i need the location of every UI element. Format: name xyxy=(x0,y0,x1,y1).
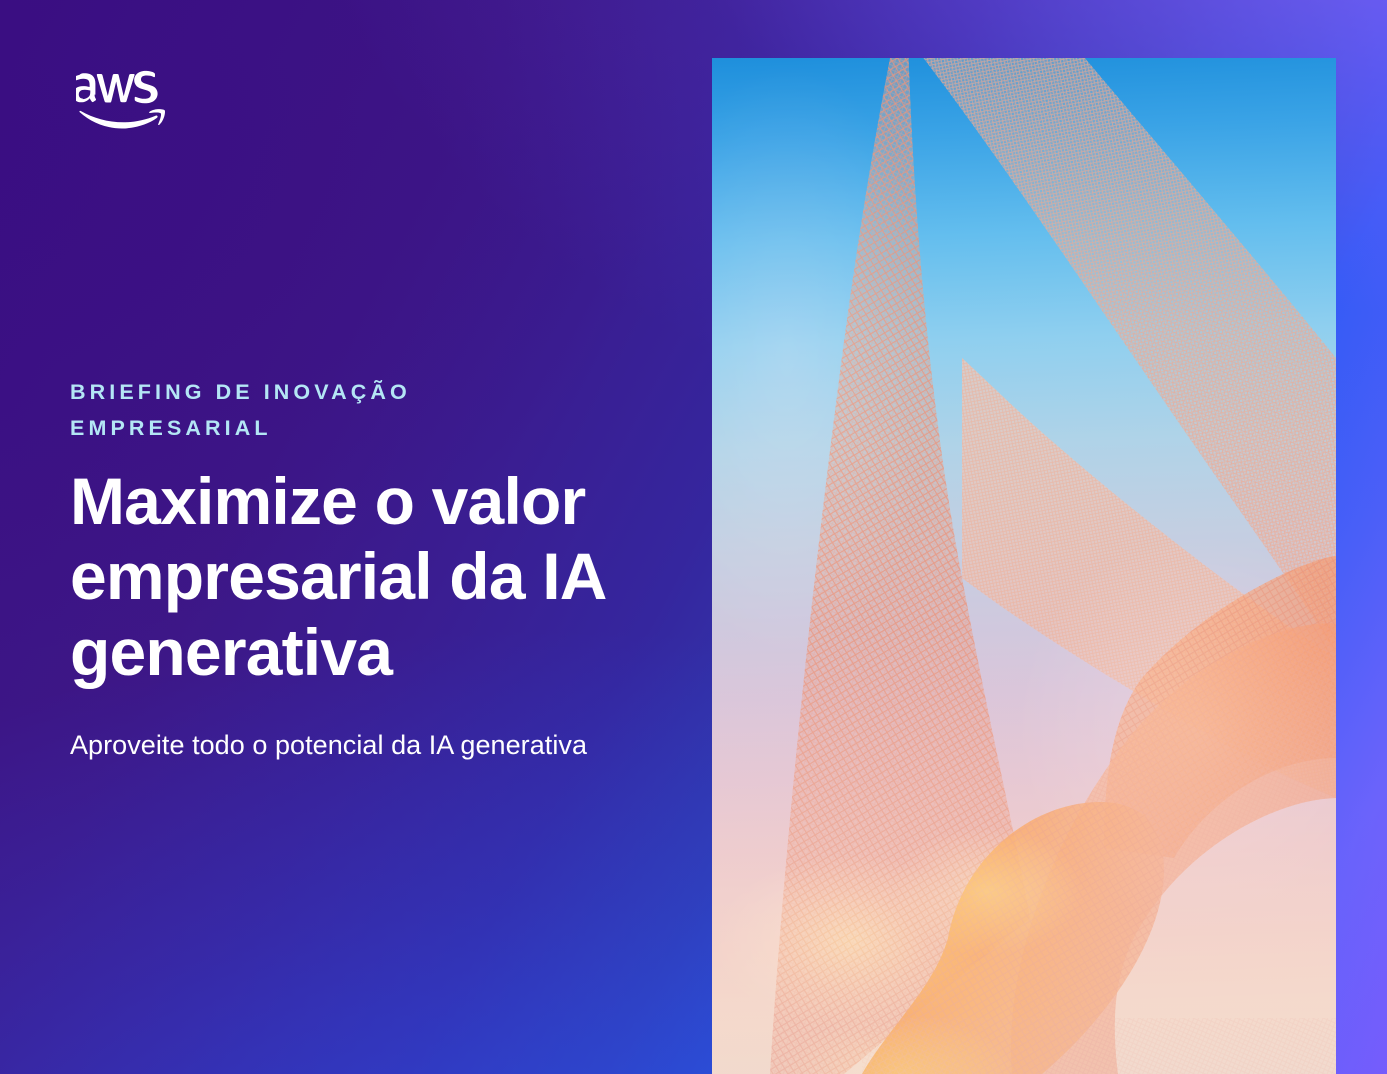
hero-image xyxy=(712,58,1336,1074)
page-subtitle: Aproveite todo o potencial da IA generat… xyxy=(70,728,670,763)
eyebrow-label: BRIEFING DE INOVAÇÃO EMPRESARIAL xyxy=(70,374,510,446)
aws-logo xyxy=(76,70,180,132)
mesh-sculpture-illustration xyxy=(712,58,1336,1074)
ebook-cover: BRIEFING DE INOVAÇÃO EMPRESARIAL Maximiz… xyxy=(0,0,1387,1074)
page-title: Maximize o valor empresarial da IA gener… xyxy=(70,464,640,690)
cover-text-block: BRIEFING DE INOVAÇÃO EMPRESARIAL Maximiz… xyxy=(70,374,670,763)
